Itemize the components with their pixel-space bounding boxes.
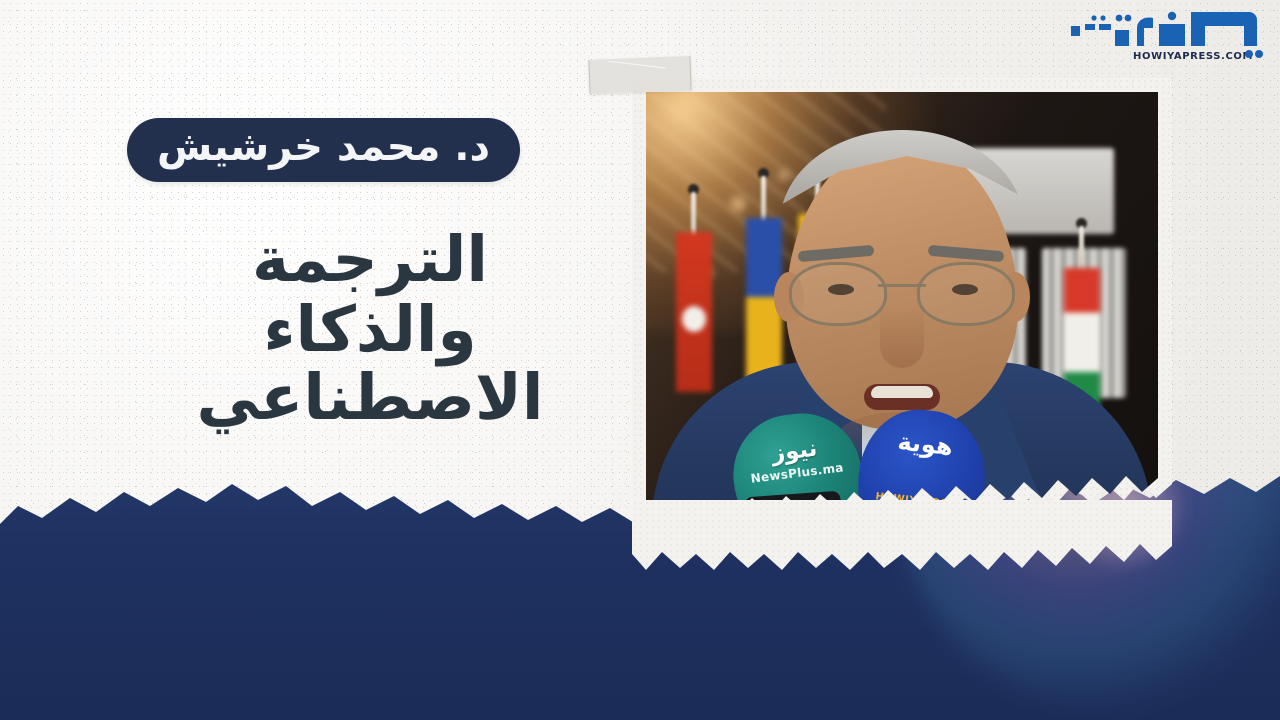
bokeh-dot [730,196,746,212]
bokeh-dot [778,170,789,181]
torn-paper-edge [632,500,1172,570]
teeth [871,386,933,398]
glasses-bridge [878,284,926,287]
flag-emblem [682,306,706,332]
guest-photo: نيوز NewsPlus.ma هوية HOWIYAPRESS [646,92,1158,542]
page-title: الترجمة والذكاء الاصطناعي [110,226,630,432]
torn-edge-texture [632,500,1172,570]
logo-url-text: HOWIYAPRESS.COM [1133,51,1253,62]
guest-name-text: د. محمد خرشيش [157,126,490,168]
nose [880,306,924,368]
lens-left [789,262,887,326]
tape-strip [588,56,691,94]
thumbnail-canvas: HOWIYAPRESS.COM د. محمد خرشيش الترجمة وا… [0,0,1280,720]
headline-line-2: والذكاء الاصطناعي [110,296,630,432]
lens-right [917,262,1015,326]
howiyapress-logo[interactable]: HOWIYAPRESS.COM [1041,4,1266,66]
guest-name-pill: د. محمد خرشيش [127,118,520,182]
headline-line-1: الترجمة [110,226,630,294]
